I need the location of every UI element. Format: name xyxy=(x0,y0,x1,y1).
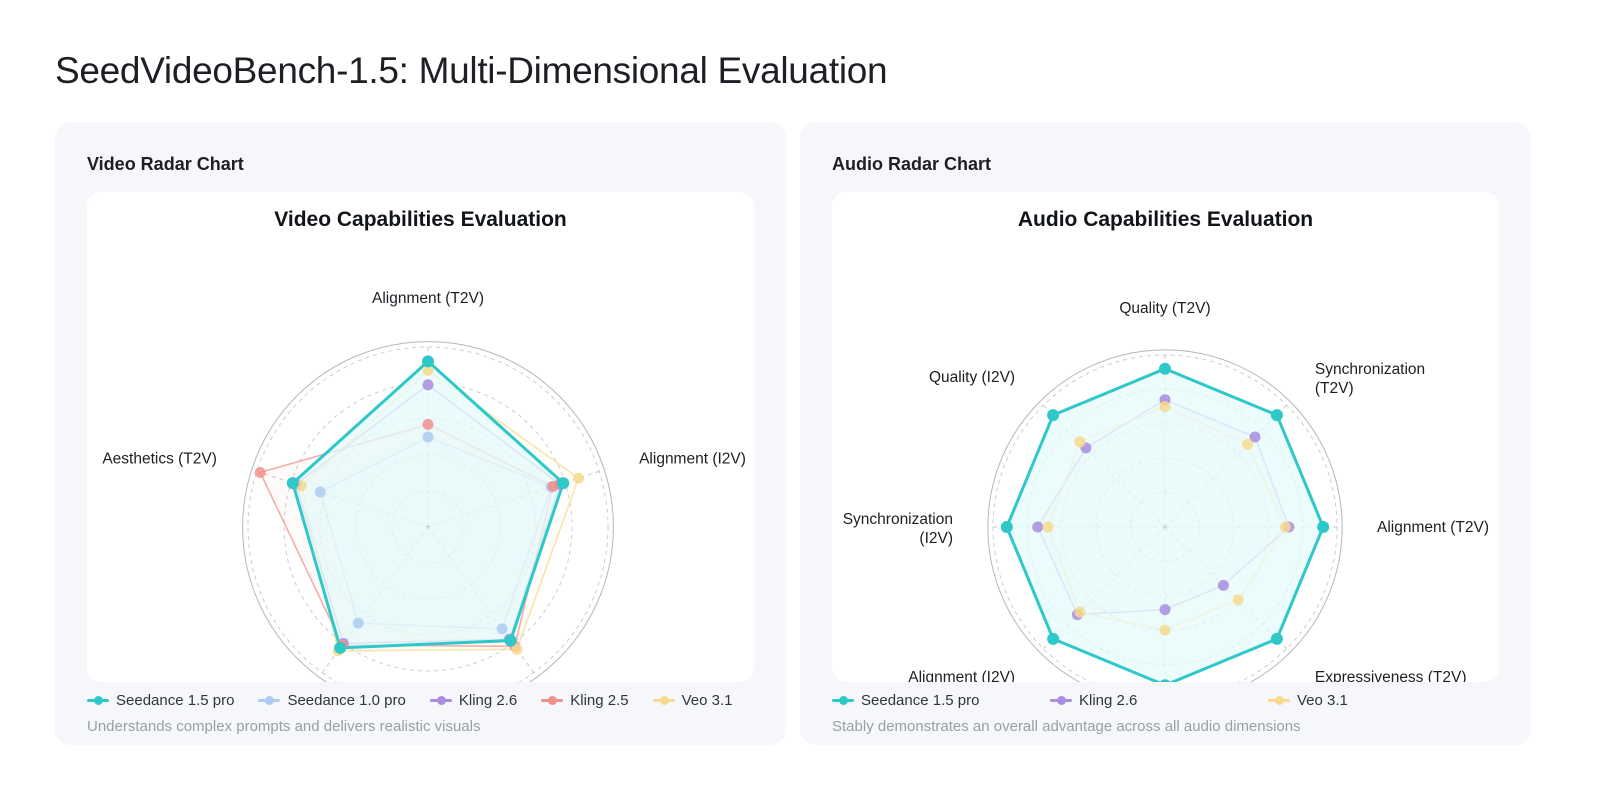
legend-label: Veo 3.1 xyxy=(1297,692,1348,709)
audio-caption: Stably demonstrates an overall advantage… xyxy=(832,718,1301,735)
audio-chart-panel: Audio Capabilities Evaluation Quality (T… xyxy=(832,192,1499,682)
legend-marker-icon xyxy=(832,694,854,706)
video-radar-card: Video Radar Chart Video Capabilities Eva… xyxy=(55,122,786,745)
axis-label: Quality (T2V) xyxy=(1119,300,1210,317)
legend-marker-icon xyxy=(1050,694,1072,706)
legend-item[interactable]: Kling 2.5 xyxy=(541,692,628,709)
audio-radar-card: Audio Radar Chart Audio Capabilities Eva… xyxy=(800,122,1531,745)
axis-label: Quality (I2V) xyxy=(929,369,1015,386)
video-radar-svg: Alignment (T2V)Alignment (I2V)Motion (T2… xyxy=(87,192,754,682)
page-title: SeedVideoBench-1.5: Multi-Dimensional Ev… xyxy=(55,50,887,92)
legend-marker-icon xyxy=(87,694,109,706)
axis-label: Synchronization(T2V) xyxy=(1315,361,1425,397)
legend-item[interactable]: Veo 3.1 xyxy=(653,692,733,709)
video-legend: Seedance 1.5 proSeedance 1.0 proKling 2.… xyxy=(87,686,754,714)
legend-item[interactable]: Kling 2.6 xyxy=(1050,692,1268,709)
legend-marker-icon xyxy=(430,694,452,706)
axis-label: Aesthetics (T2V) xyxy=(102,450,217,467)
legend-label: Kling 2.6 xyxy=(1079,692,1137,709)
axis-label: Synchronization(I2V) xyxy=(843,511,953,547)
audio-radar-svg: Quality (T2V)Synchronization(T2V)Alignme… xyxy=(832,192,1499,682)
legend-label: Seedance 1.0 pro xyxy=(287,692,405,709)
legend-label: Kling 2.6 xyxy=(459,692,517,709)
audio-card-header: Audio Radar Chart xyxy=(832,154,991,175)
axis-label: Alignment (I2V) xyxy=(908,669,1015,682)
legend-marker-icon xyxy=(1268,694,1290,706)
legend-item[interactable]: Veo 3.1 xyxy=(1268,692,1486,709)
video-chart-panel: Video Capabilities Evaluation Alignment … xyxy=(87,192,754,682)
video-card-header: Video Radar Chart xyxy=(87,154,244,175)
legend-label: Veo 3.1 xyxy=(682,692,733,709)
axis-label: Alignment (T2V) xyxy=(372,290,484,307)
legend-marker-icon xyxy=(258,694,280,706)
audio-legend: Seedance 1.5 proKling 2.6Veo 3.1 xyxy=(832,686,1499,714)
axis-label: Alignment (T2V) xyxy=(1377,519,1489,536)
legend-item[interactable]: Seedance 1.0 pro xyxy=(258,692,405,709)
legend-item[interactable]: Seedance 1.5 pro xyxy=(87,692,234,709)
axis-label: Expressiveness (T2V) xyxy=(1315,669,1467,682)
legend-label: Kling 2.5 xyxy=(570,692,628,709)
legend-marker-icon xyxy=(653,694,675,706)
legend-label: Seedance 1.5 pro xyxy=(861,692,979,709)
axis-label: Alignment (I2V) xyxy=(639,450,746,467)
video-caption: Understands complex prompts and delivers… xyxy=(87,718,481,735)
legend-item[interactable]: Kling 2.6 xyxy=(430,692,517,709)
legend-marker-icon xyxy=(541,694,563,706)
legend-item[interactable]: Seedance 1.5 pro xyxy=(832,692,1050,709)
legend-label: Seedance 1.5 pro xyxy=(116,692,234,709)
